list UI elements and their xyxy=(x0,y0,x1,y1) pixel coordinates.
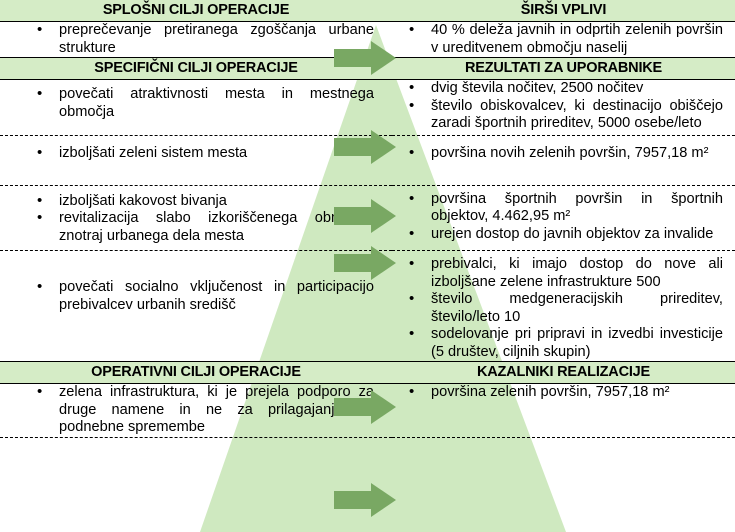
list-item: število obiskovalcev, ki destinacijo obi… xyxy=(406,98,723,133)
row-socialna-vkljucenost-left: povečati socialno vključenost in partici… xyxy=(0,251,392,362)
header-rezultati-za-uporabnike: REZULTATI ZA UPORABNIKE xyxy=(392,58,735,80)
bullet-list: povečati atraktivnosti mesta in mestnega… xyxy=(34,86,374,121)
right-arrow-icon xyxy=(334,483,396,517)
header-operativni-cilji-operacije: OPERATIVNI CILJI OPERACIJE xyxy=(0,362,392,384)
bullet-list: 40 % deleža javnih in odprtih zelenih po… xyxy=(406,22,723,57)
row-splosni-left: prepreče​vanje pretiranega zgoščanja urb… xyxy=(0,22,392,58)
list-item: površina športnih površin in športnih ob… xyxy=(406,191,723,226)
table-row: zelena infrastruktura, ki je prejela pod… xyxy=(0,384,735,438)
objectives-table: SPLOŠNI CILJI OPERACIJE ŠIRŠI VPLIVI pre… xyxy=(0,0,735,438)
bullet-list: prepreče​vanje pretiranega zgoščanja urb… xyxy=(34,22,374,57)
table-row: izboljšati kakovost bivanja revitalizaci… xyxy=(0,185,735,251)
row-atraktivnost-right: dvig števila nočitev, 2500 nočitev števi… xyxy=(392,80,735,136)
list-item: površina zelenih površin, 7957,18 m² xyxy=(406,384,723,402)
table-row: prepreče​vanje pretiranega zgoščanja urb… xyxy=(0,22,735,58)
row-operativni-left: zelena infrastruktura, ki je prejela pod… xyxy=(0,384,392,438)
list-item: prepreče​vanje pretiranega zgoščanja urb… xyxy=(34,22,374,57)
bullet-list: povečati socialno vključenost in partici… xyxy=(34,279,374,314)
list-item: izboljšati zeleni sistem mesta xyxy=(34,145,374,163)
bullet-list: izboljšati kakovost bivanja revitalizaci… xyxy=(34,193,374,246)
bullet-list: izboljšati zeleni sistem mesta xyxy=(34,145,374,163)
bullet-list: zelena infrastruktura, ki je prejela pod… xyxy=(34,384,374,437)
section-header-operativni: OPERATIVNI CILJI OPERACIJE KAZALNIKI REA… xyxy=(0,362,735,384)
row-atraktivnost-left: povečati atraktivnosti mesta in mestnega… xyxy=(0,80,392,136)
row-zeleni-sistem-right: površina novih zelenih površin, 7957,18 … xyxy=(392,136,735,186)
row-socialna-vkljucenost-right: prebivalci, ki imajo dostop do nove ali … xyxy=(392,251,735,362)
list-item: sodelovanje pri pripravi in izvedbi inve… xyxy=(406,326,723,361)
table-row: povečati socialno vključenost in partici… xyxy=(0,251,735,362)
header-kazalniki-realizacije: KAZALNIKI REALIZACIJE xyxy=(392,362,735,384)
section-header-splosni: SPLOŠNI CILJI OPERACIJE ŠIRŠI VPLIVI xyxy=(0,0,735,22)
list-item: izboljšati kakovost bivanja xyxy=(34,193,374,211)
list-item: povečati atraktivnosti mesta in mestnega… xyxy=(34,86,374,121)
bullet-list: površina novih zelenih površin, 7957,18 … xyxy=(406,145,723,163)
row-splosni-right: 40 % deleža javnih in odprtih zelenih po… xyxy=(392,22,735,58)
row-kakovost-bivanja-left: izboljšati kakovost bivanja revitalizaci… xyxy=(0,185,392,251)
table-row: povečati atraktivnosti mesta in mestnega… xyxy=(0,80,735,136)
row-operativni-right: površina zelenih površin, 7957,18 m² xyxy=(392,384,735,438)
list-item: zelena infrastruktura, ki je prejela pod… xyxy=(34,384,374,437)
header-specificni-cilji-operacije: SPECIFIČNI CILJI OPERACIJE xyxy=(0,58,392,80)
list-item: 40 % deleža javnih in odprtih zelenih po… xyxy=(406,22,723,57)
list-item: povečati socialno vključenost in partici… xyxy=(34,279,374,314)
bullet-list: dvig števila nočitev, 2500 nočitev števi… xyxy=(406,80,723,133)
bullet-list: prebivalci, ki imajo dostop do nove ali … xyxy=(406,256,723,361)
row-kakovost-bivanja-right: površina športnih površin in športnih ob… xyxy=(392,185,735,251)
list-item: površina novih zelenih površin, 7957,18 … xyxy=(406,145,723,163)
list-item: število medgeneracijskih prireditev, šte… xyxy=(406,291,723,326)
section-header-specificni: SPECIFIČNI CILJI OPERACIJE REZULTATI ZA … xyxy=(0,58,735,80)
header-sirsi-vplivi: ŠIRŠI VPLIVI xyxy=(392,0,735,22)
header-splosni-cilji-operacije: SPLOŠNI CILJI OPERACIJE xyxy=(0,0,392,22)
table-row: izboljšati zeleni sistem mesta površina … xyxy=(0,136,735,186)
list-item: dvig števila nočitev, 2500 nočitev xyxy=(406,80,723,98)
bullet-list: površina športnih površin in športnih ob… xyxy=(406,191,723,244)
list-item: urejen dostop do javnih objektov za inva… xyxy=(406,226,723,244)
diagram-root: SPLOŠNI CILJI OPERACIJE ŠIRŠI VPLIVI pre… xyxy=(0,0,735,532)
list-item: revitalizacija slabo izkoriščenega območ… xyxy=(34,210,374,245)
list-item: prebivalci, ki imajo dostop do nove ali … xyxy=(406,256,723,291)
bullet-list: površina zelenih površin, 7957,18 m² xyxy=(406,384,723,402)
row-zeleni-sistem-left: izboljšati zeleni sistem mesta xyxy=(0,136,392,186)
